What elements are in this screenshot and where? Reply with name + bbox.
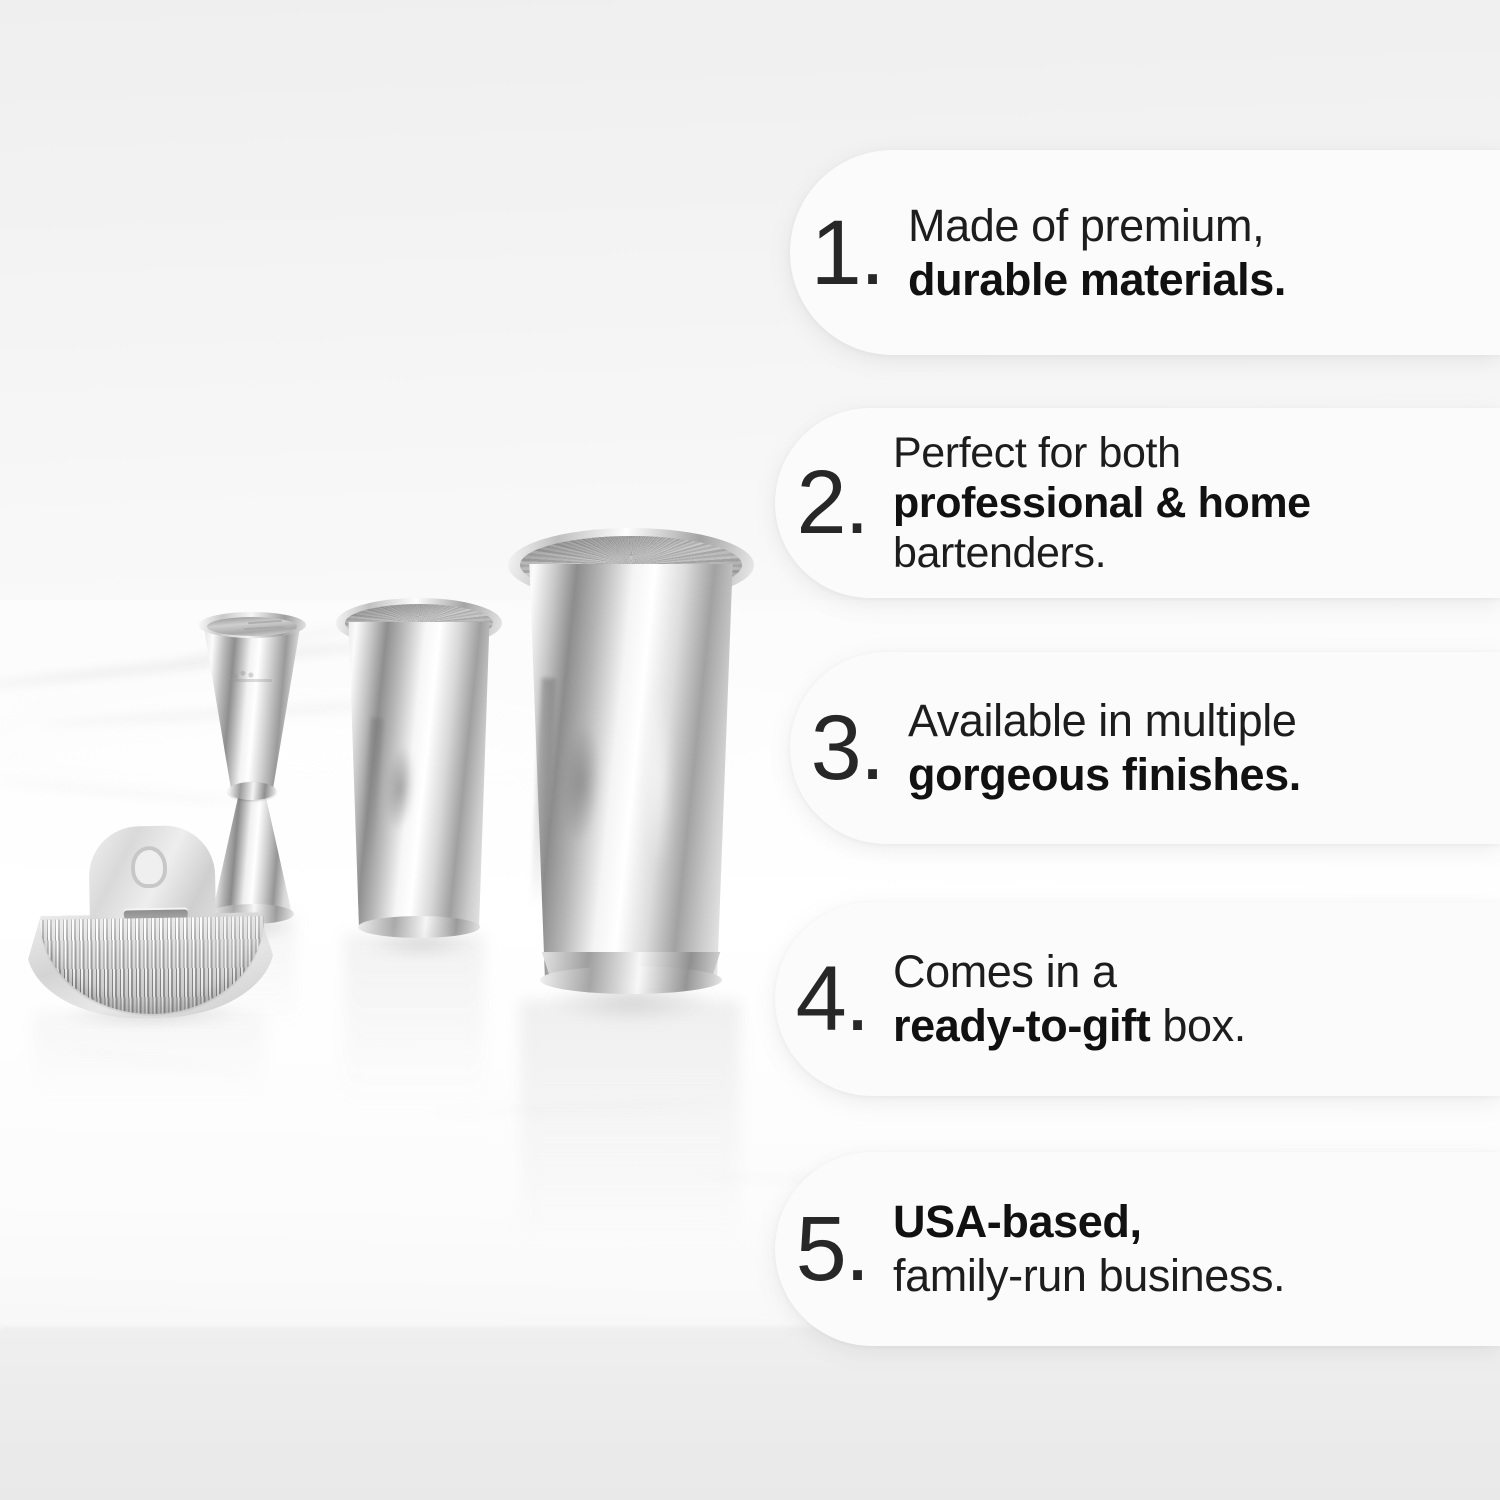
feature-number-5: 5. xyxy=(775,1203,893,1295)
feature-card-1[interactable]: 1. Made of premium, durable materials. xyxy=(790,150,1500,355)
table-front-face xyxy=(0,1330,1500,1500)
tin-base-ring xyxy=(540,966,722,994)
feature-line-rest: box. xyxy=(1150,1000,1246,1051)
feature-text-2: Perfect for both professional & home bar… xyxy=(893,428,1500,579)
feature-card-4[interactable]: 4. Comes in a ready-to-gift box. xyxy=(775,902,1500,1096)
feature-text-1: Made of premium, durable materials. xyxy=(908,199,1500,307)
table-reflection xyxy=(34,1012,264,1122)
feature-line-bold: USA-based, xyxy=(893,1196,1142,1247)
feature-line-bold: professional & home xyxy=(893,479,1311,527)
feature-number-3: 3. xyxy=(790,702,908,794)
feature-line: ready-to-gift box. xyxy=(893,999,1470,1053)
feature-number-4: 4. xyxy=(775,953,893,1045)
feature-card-2[interactable]: 2. Perfect for both professional & home … xyxy=(775,408,1500,598)
feature-line-bold: durable materials. xyxy=(908,254,1286,305)
feature-text-4: Comes in a ready-to-gift box. xyxy=(893,945,1500,1053)
feature-line: professional & home xyxy=(893,478,1470,528)
tin-highlight xyxy=(640,648,676,908)
feature-text-5: USA-based, family-run business. xyxy=(893,1195,1500,1303)
feature-number-2: 2. xyxy=(775,458,893,548)
infographic-canvas: barcove 1. Made of premium, durable mate… xyxy=(0,0,1500,1500)
feature-line: gorgeous finishes. xyxy=(908,748,1470,802)
feature-line: bartenders. xyxy=(893,528,1470,578)
jigger-upper-cone xyxy=(204,628,300,788)
feature-line: durable materials. xyxy=(908,253,1470,307)
jigger-waist-ring xyxy=(228,782,276,800)
table-reflection xyxy=(344,934,484,1154)
feature-card-5[interactable]: 5. USA-based, family-run business. xyxy=(775,1152,1500,1346)
feature-line: family-run business. xyxy=(893,1249,1470,1303)
feature-line: Available in multiple xyxy=(908,694,1470,748)
feature-line: Perfect for both xyxy=(893,428,1470,478)
feature-line: Made of premium, xyxy=(908,199,1470,253)
tin-body xyxy=(518,564,744,984)
feature-card-3[interactable]: 3. Available in multiple gorgeous finish… xyxy=(790,652,1500,844)
large-shaker-tin xyxy=(508,528,754,1018)
feature-line-bold: ready-to-gift xyxy=(893,1000,1150,1051)
table-reflection xyxy=(520,1000,740,1320)
jigger-engraved-logo xyxy=(224,664,280,686)
feature-line-bold: gorgeous finishes. xyxy=(908,749,1301,800)
feature-line: USA-based, xyxy=(893,1195,1470,1249)
small-shaker-tin xyxy=(336,598,502,952)
feature-number-1: 1. xyxy=(790,207,908,299)
feature-line: Comes in a xyxy=(893,945,1470,999)
feature-text-3: Available in multiple gorgeous finishes. xyxy=(908,694,1500,802)
